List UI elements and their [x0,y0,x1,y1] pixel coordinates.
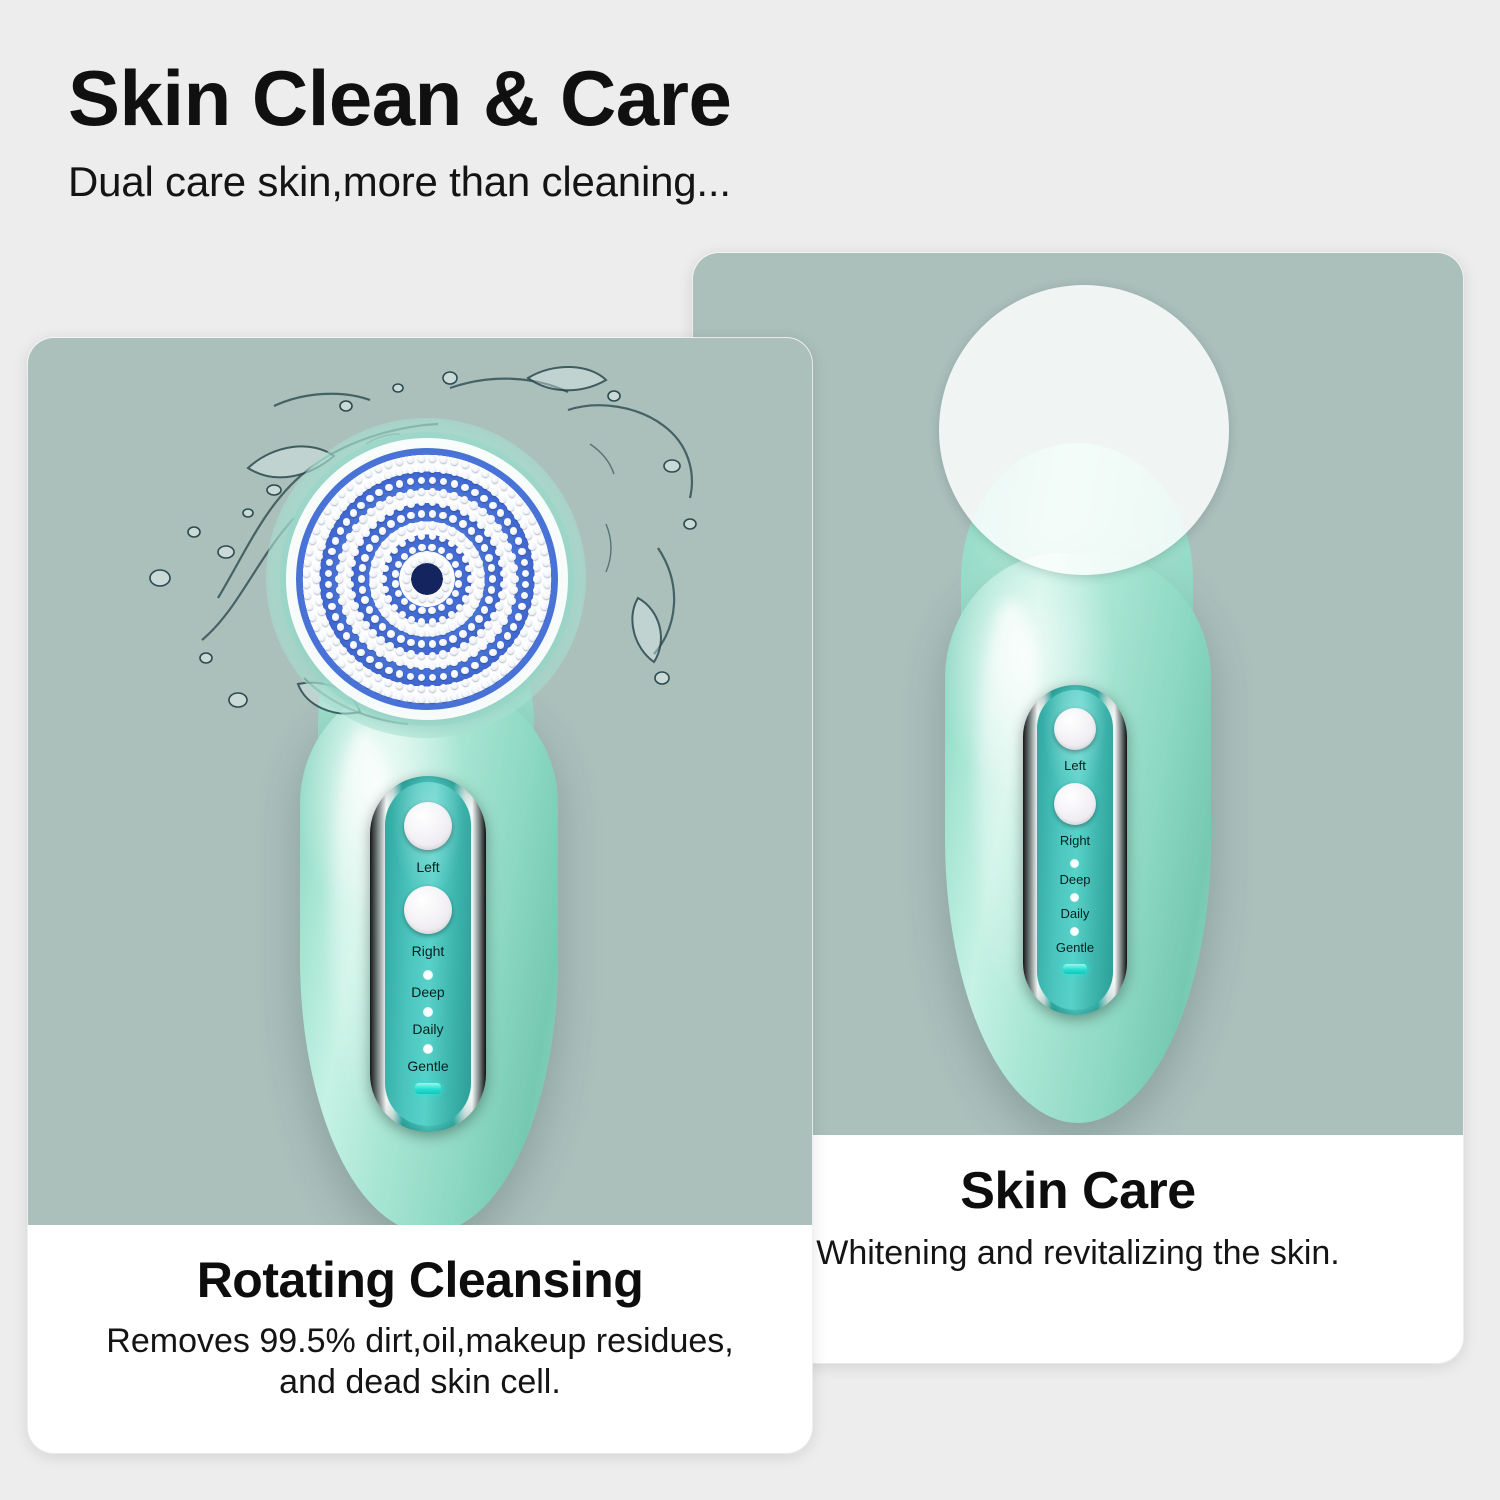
button-left[interactable] [404,802,452,850]
led-gentle [1070,927,1079,936]
button-left-label: Left [1064,759,1086,772]
button-left[interactable] [1054,708,1096,750]
mode-gentle-label: Gentle [1056,941,1094,954]
led-daily [1070,893,1079,902]
led-deep [1070,859,1079,868]
caption-title-rotating-cleansing: Rotating Cleansing [28,1251,812,1309]
button-right-label: Right [412,944,445,958]
silicone-dome-head [958,303,1210,555]
battery-indicator [415,1083,441,1094]
caption-description-line-2: and dead skin cell. [279,1363,561,1401]
caption-description-line-1: Removes 99.5% dirt,oil,makeup residues, [106,1322,733,1360]
rotating-brush-head [296,448,558,710]
button-right-label: Right [1060,834,1090,847]
device-rotating-cleansing: Left Right Deep Daily Gentle [28,338,812,1225]
mode-deep-label: Deep [411,985,444,999]
caption-description-rotating-cleansing: Removes 99.5% dirt,oil,makeup residues, … [28,1321,812,1403]
led-gentle [423,1044,433,1054]
product-card-rotating-cleansing[interactable]: Left Right Deep Daily Gentle Rotating Cl… [28,338,812,1453]
brush-rim [286,438,569,721]
card-caption-rotating-cleansing: Rotating Cleansing Removes 99.5% dirt,oi… [28,1225,812,1403]
control-panel-rotating-cleansing[interactable]: Left Right Deep Daily Gentle [370,776,486,1132]
button-right[interactable] [404,886,452,934]
mode-gentle-label: Gentle [407,1059,448,1073]
mode-daily-label: Daily [412,1022,443,1036]
control-panel-skin-care[interactable]: Left Right Deep Daily Gentle [1023,685,1127,1015]
page-header: Skin Clean & Care Dual care skin,more th… [68,58,1068,206]
button-right[interactable] [1054,783,1096,825]
mode-deep-label: Deep [1059,873,1090,886]
page-title: Skin Clean & Care [68,58,1068,140]
button-left-label: Left [416,860,439,874]
led-deep [423,970,433,980]
battery-indicator [1063,964,1087,974]
mode-daily-label: Daily [1061,907,1090,920]
led-daily [423,1007,433,1017]
card-image-rotating-cleansing: Left Right Deep Daily Gentle [28,338,812,1225]
page-subtitle: Dual care skin,more than cleaning... [68,158,1068,206]
